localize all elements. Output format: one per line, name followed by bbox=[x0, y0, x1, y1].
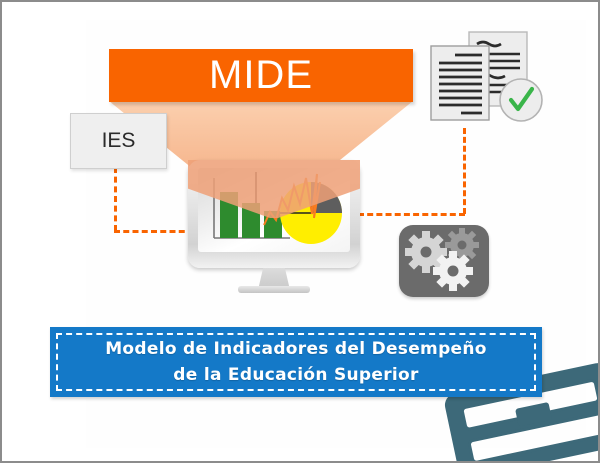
document-front-lines bbox=[439, 55, 482, 113]
ies-label: IES bbox=[71, 114, 166, 168]
documents-checked-icon bbox=[427, 30, 547, 130]
ies-box: IES bbox=[70, 113, 167, 169]
mide-label: MIDE bbox=[109, 49, 413, 102]
connector-ies-horizontal bbox=[114, 230, 194, 233]
screen-chart bbox=[198, 168, 350, 252]
chart-bar-2 bbox=[242, 203, 260, 238]
monitor-base bbox=[238, 286, 310, 293]
gears-icon bbox=[399, 225, 489, 297]
check-circle-icon bbox=[500, 79, 542, 121]
connector-docs-horizontal bbox=[358, 213, 465, 216]
title-banner-text: Modelo de Indicadores del Desempeño de l… bbox=[50, 327, 542, 397]
title-line-2: de la Educación Superior bbox=[173, 362, 418, 388]
title-line-1: Modelo de Indicadores del Desempeño bbox=[105, 336, 487, 362]
connector-ies-vertical bbox=[114, 167, 117, 231]
mide-banner: MIDE bbox=[109, 49, 413, 102]
monitor-frame bbox=[188, 160, 360, 268]
monitor-chart-icon bbox=[188, 160, 360, 292]
title-banner: Modelo de Indicadores del Desempeño de l… bbox=[50, 327, 542, 397]
chart-bar-1 bbox=[220, 192, 238, 238]
monitor-screen bbox=[198, 168, 350, 252]
infographic-canvas: MIDE IES bbox=[0, 0, 600, 463]
connector-docs-vertical bbox=[463, 128, 466, 214]
